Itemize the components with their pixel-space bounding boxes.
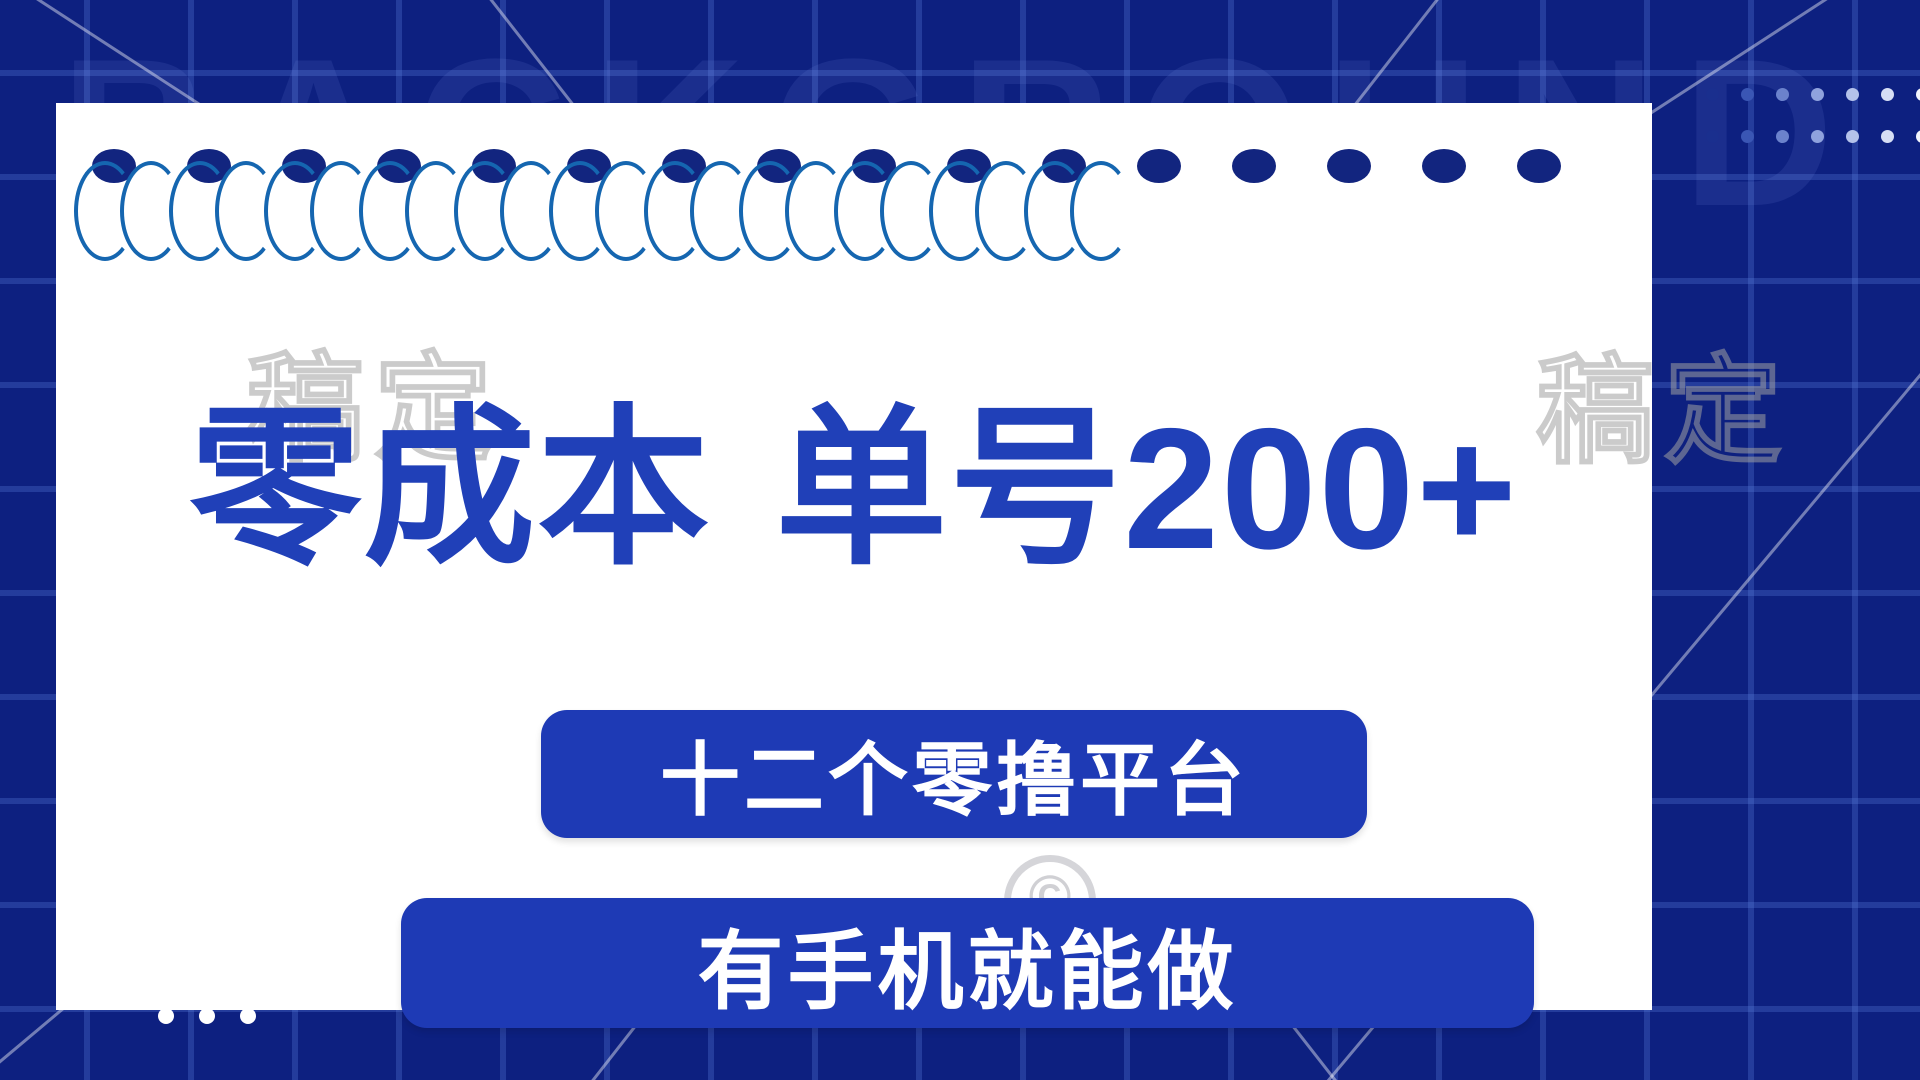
badge-phone-only-label: 有手机就能做 (698, 901, 1238, 1026)
decor-dot (240, 1008, 256, 1024)
spiral-ring (739, 161, 801, 261)
spiral-hole (567, 149, 611, 183)
spiral-ring (310, 161, 372, 261)
spiral-hole (1517, 149, 1561, 183)
decor-dot (1741, 130, 1754, 143)
decor-dot (1776, 88, 1789, 101)
badge-platform-count: 十二个零撸平台 (541, 710, 1367, 838)
spiral-hole (377, 149, 421, 183)
decor-dot (1811, 130, 1824, 143)
poster-canvas: BACKGROUND 稿定 稿定 © 零成本单号200+ 十二个零撸平台 有手机… (0, 0, 1920, 1080)
spiral-hole (472, 149, 516, 183)
decor-dot-row-bottom-left (158, 1008, 256, 1024)
spiral-binding (56, 103, 1652, 233)
headline-part-one: 零成本 (189, 393, 711, 585)
decor-dot (1741, 88, 1754, 101)
spiral-hole (1327, 149, 1371, 183)
spiral-hole (1422, 149, 1466, 183)
decor-dot (1916, 88, 1920, 101)
spiral-ring (74, 161, 136, 261)
decor-dot (1846, 130, 1859, 143)
spiral-hole (282, 149, 326, 183)
spiral-ring (215, 161, 277, 261)
spiral-ring (1070, 161, 1132, 261)
decor-dot (1706, 88, 1719, 101)
spiral-ring (975, 161, 1037, 261)
decor-dot (158, 1008, 174, 1024)
spiral-hole (1042, 149, 1086, 183)
decor-dot (1881, 130, 1894, 143)
decor-dot (1881, 88, 1894, 101)
headline-part-two: 单号200+ (775, 393, 1518, 585)
spiral-ring (595, 161, 657, 261)
spiral-hole (92, 149, 136, 183)
decor-dot-row-bottom (1706, 130, 1920, 143)
spiral-ring (1024, 161, 1086, 261)
spiral-ring (405, 161, 467, 261)
spiral-hole (947, 149, 991, 183)
spiral-hole (187, 149, 231, 183)
spiral-hole (1137, 149, 1181, 183)
spiral-ring (120, 161, 182, 261)
spiral-ring (169, 161, 231, 261)
decor-dot (199, 1008, 215, 1024)
decor-dot (1811, 88, 1824, 101)
spiral-hole (757, 149, 801, 183)
spiral-ring (549, 161, 611, 261)
page-title: 零成本单号200+ (56, 403, 1652, 575)
spiral-ring (454, 161, 516, 261)
spiral-ring (785, 161, 847, 261)
spiral-ring (929, 161, 991, 261)
decor-dot (1776, 130, 1789, 143)
spiral-hole (1232, 149, 1276, 183)
spiral-hole (662, 149, 706, 183)
spiral-ring (359, 161, 421, 261)
decor-dot-row-top (1706, 88, 1920, 101)
decor-dot (1706, 130, 1719, 143)
spiral-ring (264, 161, 326, 261)
spiral-hole (852, 149, 896, 183)
spiral-ring (834, 161, 896, 261)
notepad-card: 稿定 稿定 © 零成本单号200+ 十二个零撸平台 有手机就能做 (56, 103, 1652, 1010)
decor-dot (1846, 88, 1859, 101)
badge-platform-count-label: 十二个零撸平台 (660, 716, 1248, 832)
spiral-ring (880, 161, 942, 261)
badge-phone-only: 有手机就能做 (401, 898, 1534, 1028)
spiral-ring (690, 161, 752, 261)
spiral-ring (500, 161, 562, 261)
decor-dot (1916, 130, 1920, 143)
spiral-ring (644, 161, 706, 261)
